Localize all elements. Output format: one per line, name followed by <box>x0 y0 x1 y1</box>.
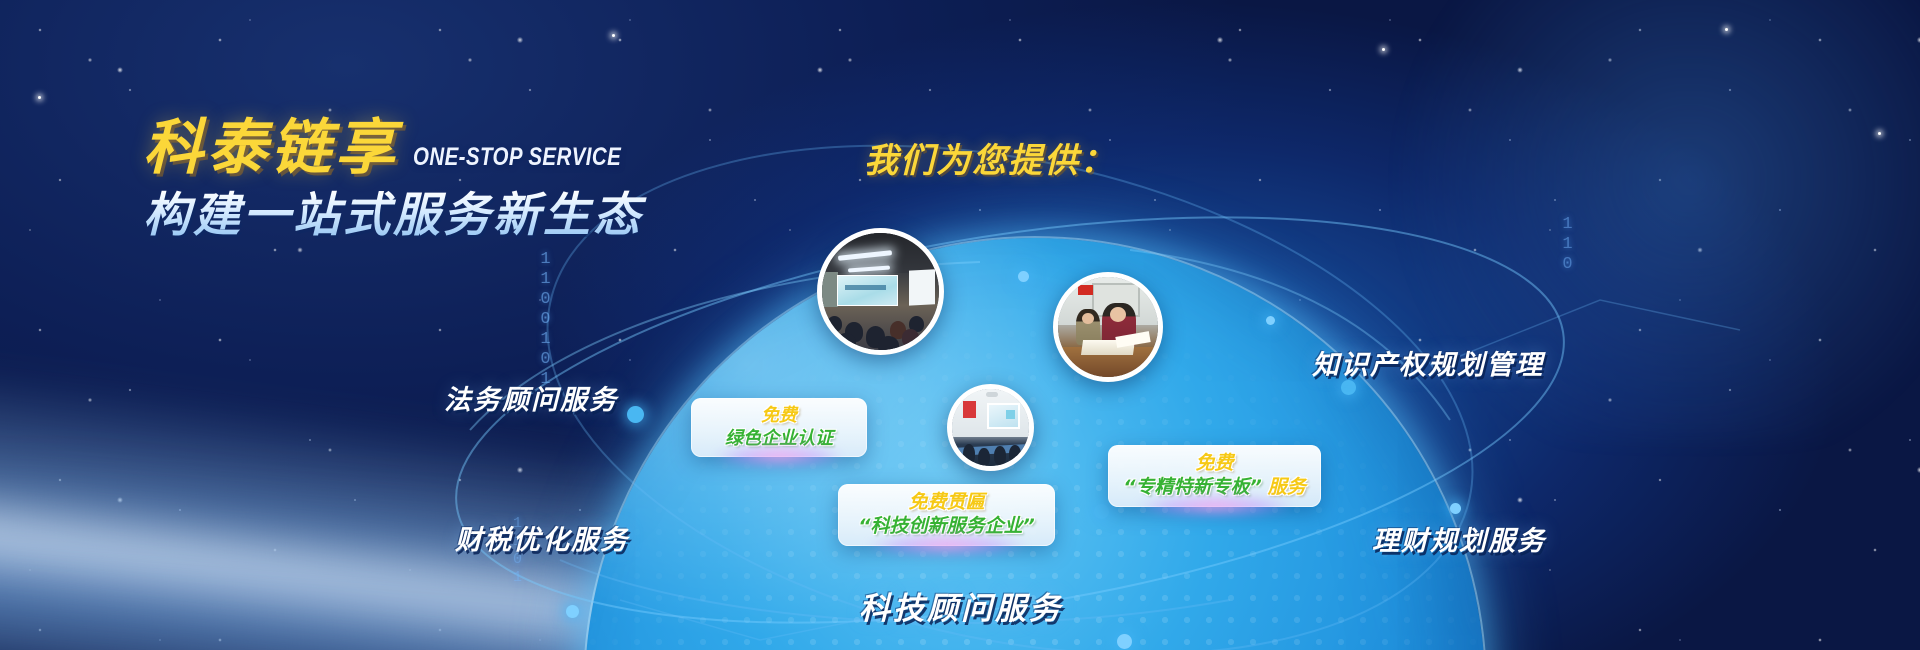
orbit-node <box>1094 504 1109 519</box>
service-label-tax-optimization[interactable]: 财税优化服务 <box>455 518 629 557</box>
binary-decoration-left: 1100101 <box>533 250 558 390</box>
badge-specialized-new-board-service[interactable]: 免费 “专精特新专板” 服务 <box>1108 445 1321 507</box>
section-heading: 我们为您提供： <box>864 133 1116 182</box>
service-label-tech-advisory[interactable]: 科技顾问服务 <box>859 583 1063 628</box>
badge-green-enterprise-certification[interactable]: 免费 绿色企业认证 <box>691 398 867 457</box>
bright-star <box>38 96 41 99</box>
badge-line-free: 免费 <box>1195 452 1233 476</box>
photo-meeting-room-presentation <box>947 384 1034 471</box>
service-label-ip-planning-management[interactable]: 知识产权规划管理 <box>1312 343 1544 382</box>
orbit-node <box>1266 316 1275 325</box>
service-label-wealth-planning[interactable]: 理财规划服务 <box>1372 519 1546 558</box>
bright-star <box>1878 132 1881 135</box>
bright-star <box>1725 28 1728 31</box>
badge-line-free: 免费贯匾 <box>908 491 984 515</box>
badge-tech-innovation-service-enterprise[interactable]: 免费贯匾 “科技创新服务企业” <box>838 484 1055 546</box>
bright-star <box>612 34 615 37</box>
orbit-node <box>1450 503 1461 514</box>
badge-glow <box>716 445 843 467</box>
badge-glow <box>868 534 1024 556</box>
orbit-node <box>1018 271 1029 282</box>
badge-glow <box>1138 495 1291 517</box>
badge-line-free: 免费 <box>761 405 797 428</box>
orbit-node <box>1117 634 1132 649</box>
brand-title: 科泰链享 <box>143 118 399 178</box>
brand-title-en: ONE-STOP SERVICE <box>413 143 621 172</box>
binary-decoration-right: 110 <box>1555 215 1580 275</box>
orbit-node <box>627 406 644 423</box>
badge-line-suffix: 服务 <box>1268 476 1306 500</box>
promo-banner: 1100101 110 1101 科泰链享 ONE-STOP SERVICE 构… <box>0 0 1920 650</box>
brand-subtitle: 构建一站式服务新生态 <box>143 190 743 242</box>
orbit-node <box>1341 380 1356 395</box>
bright-star <box>1382 48 1385 51</box>
photo-document-review-office <box>1053 272 1163 382</box>
orbit-node <box>566 605 579 618</box>
service-label-legal-advisory[interactable]: 法务顾问服务 <box>444 378 618 417</box>
photo-lecture-hall-training <box>817 228 944 355</box>
headline-block: 科泰链享 ONE-STOP SERVICE 构建一站式服务新生态 <box>143 118 743 242</box>
